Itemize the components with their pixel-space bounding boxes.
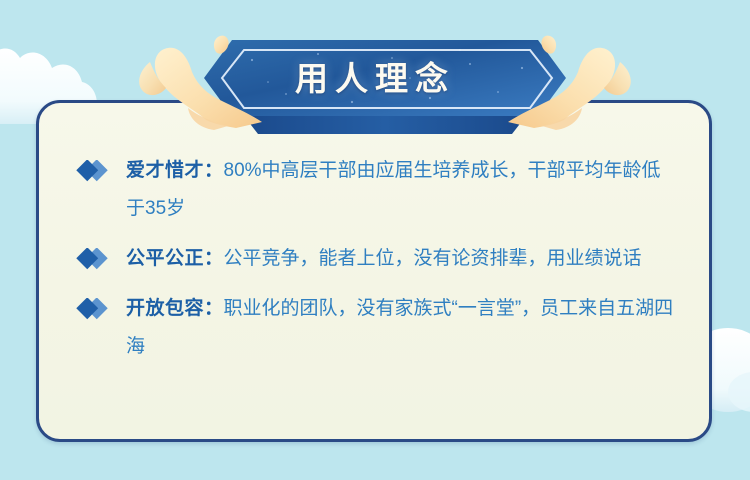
principles-list: 爱才惜才：80%中高层干部由应届生培养成长，干部平均年龄低于35岁 公平公正：公… bbox=[76, 152, 676, 366]
title-banner: 用人理念 bbox=[0, 24, 750, 142]
list-item-body: 公平竞争，能者上位，没有论资排辈，用业绩说话 bbox=[224, 248, 642, 269]
list-item-label: 公平公正： bbox=[126, 248, 224, 269]
page-title: 用人理念 bbox=[0, 52, 750, 100]
list-item: 开放包容：职业化的团队，没有家族式“一言堂”，员工来自五湖四海 bbox=[76, 290, 676, 366]
list-item-text: 公平公正：公平竞争，能者上位，没有论资排辈，用业绩说话 bbox=[126, 240, 676, 278]
list-item-text: 爱才惜才：80%中高层干部由应届生培养成长，干部平均年龄低于35岁 bbox=[126, 152, 676, 228]
double-diamond-bullet-icon bbox=[76, 248, 112, 270]
list-item: 爱才惜才：80%中高层干部由应届生培养成长，干部平均年龄低于35岁 bbox=[76, 152, 676, 228]
poster-stage: 用人理念 爱才惜才：80%中高层干部由应届生培养成长，干部平均年龄低于35岁 公… bbox=[0, 0, 750, 480]
list-item-label: 爱才惜才： bbox=[126, 160, 224, 181]
list-item-text: 开放包容：职业化的团队，没有家族式“一言堂”，员工来自五湖四海 bbox=[126, 290, 676, 366]
list-item: 公平公正：公平竞争，能者上位，没有论资排辈，用业绩说话 bbox=[76, 240, 676, 278]
double-diamond-bullet-icon bbox=[76, 160, 112, 182]
double-diamond-bullet-icon bbox=[76, 298, 112, 320]
list-item-label: 开放包容： bbox=[126, 298, 224, 319]
